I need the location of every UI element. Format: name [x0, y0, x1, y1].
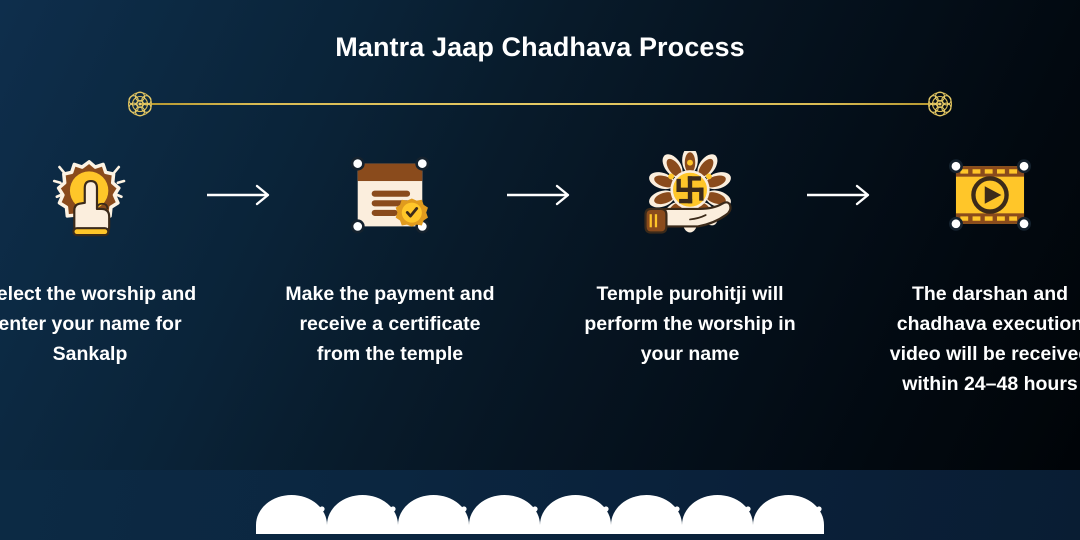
mandala-rosette-icon-right [920, 84, 960, 124]
next-step-arrow-2 [497, 145, 583, 245]
process-step-list: Select the worship and enter your name f… [0, 145, 1080, 399]
video-film-play-icon [942, 145, 1038, 245]
hand-holding-swastika-icon [642, 145, 738, 245]
process-step-2: Make the payment and receive a certifica… [283, 145, 497, 369]
scalloped-canopy-valance [256, 485, 824, 540]
certificate-seal-icon [342, 145, 438, 245]
divider-line [140, 103, 940, 105]
hand-tap-sun-icon [42, 145, 138, 245]
process-step-3-caption: Temple purohitji will perform the worshi… [583, 279, 797, 369]
infographic-canvas: Mantra Jaap Chadhava Process [0, 0, 1080, 540]
process-step-3: Temple purohitji will perform the worshi… [583, 145, 797, 369]
next-step-arrow-3 [797, 145, 883, 245]
process-step-1: Select the worship and enter your name f… [0, 145, 197, 369]
process-step-4-caption: The darshan and chadhava execution video… [883, 279, 1080, 399]
mandala-rosette-icon-left [120, 84, 160, 124]
process-step-2-caption: Make the payment and receive a certifica… [283, 279, 497, 369]
next-step-arrow-1 [197, 145, 283, 245]
process-step-1-caption: Select the worship and enter your name f… [0, 279, 197, 369]
process-step-4: The darshan and chadhava execution video… [883, 145, 1080, 399]
page-title: Mantra Jaap Chadhava Process [0, 32, 1080, 63]
ornamental-divider [120, 84, 960, 124]
